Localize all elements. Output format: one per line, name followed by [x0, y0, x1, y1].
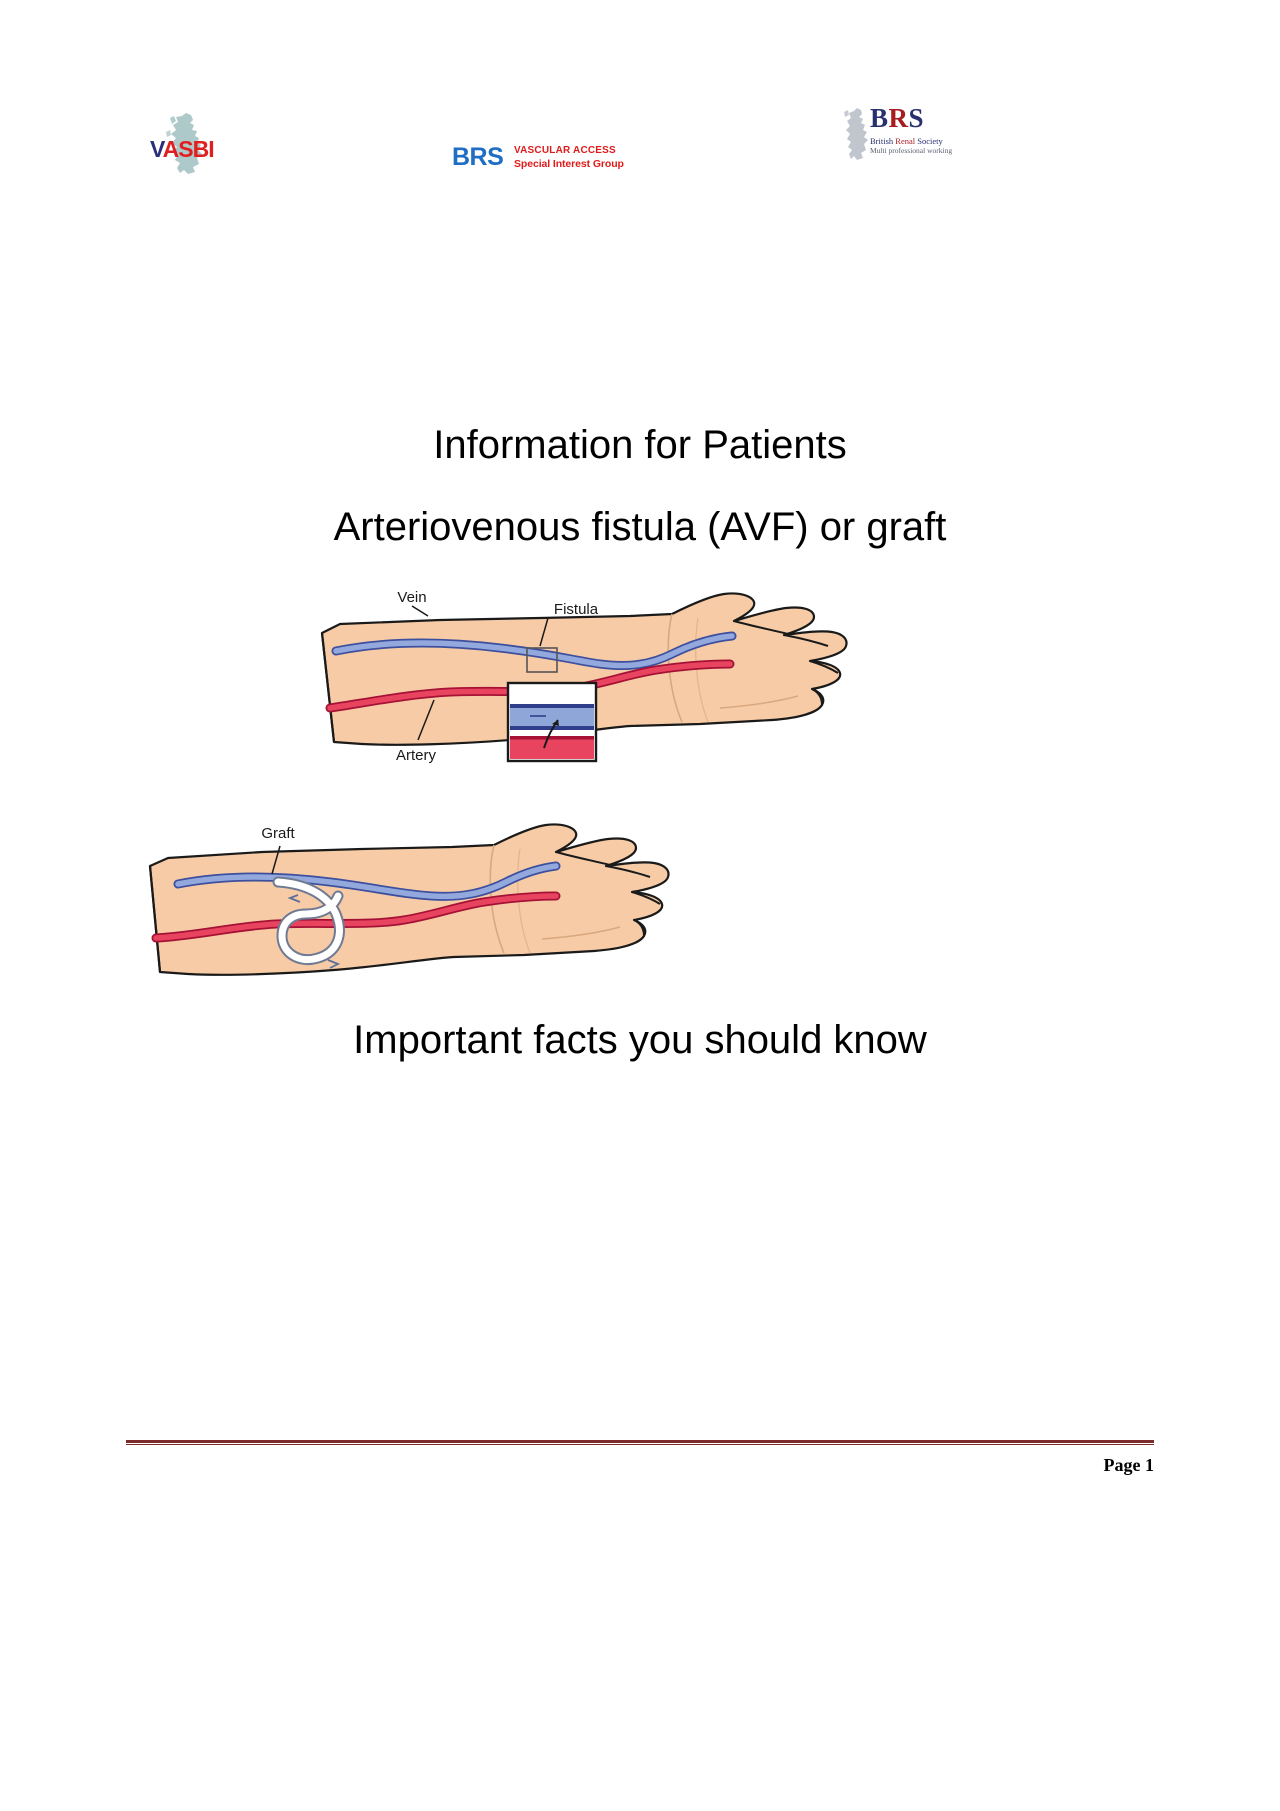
page-title-line-2: Arteriovenous fistula (AVF) or graft: [0, 505, 1280, 550]
british-renal-society-logo: BRS British Renal Society Multi professi…: [842, 105, 946, 167]
vasig-line-1: VASCULAR ACCESS: [514, 145, 624, 158]
vasbi-logo: VASBI: [150, 112, 228, 178]
vasig-text-block: VASCULAR ACCESS Special Interest Group: [514, 145, 624, 171]
footer-rule-thin: [126, 1444, 1154, 1445]
brs-vascular-access-sig-logo: BRS VASCULAR ACCESS Special Interest Gro…: [452, 143, 632, 183]
brs-letter-r: R: [889, 103, 909, 133]
brs-tagline: Multi professional working: [870, 146, 952, 155]
label-artery: Artery: [396, 747, 437, 764]
footer-divider: [126, 1440, 1154, 1446]
vasig-line-2: Special Interest Group: [514, 158, 624, 171]
graft-illustration: Graft: [132, 818, 692, 1003]
label-vein: Vein: [397, 589, 426, 606]
fistula-diagram: Vein Fistula Artery: [300, 588, 860, 803]
arm-shape: [150, 824, 668, 974]
page-tagline: Important facts you should know: [0, 1018, 1280, 1063]
page-number: Page 1: [126, 1455, 1154, 1476]
vasbi-letters-asbi: ASBI: [163, 136, 214, 162]
brs-subtitle-society: Society: [917, 136, 943, 146]
brs-subtitle-renal: Renal: [895, 136, 917, 146]
fistula-inset-panel: [508, 683, 596, 761]
brs-letter-s: S: [909, 103, 925, 133]
header-logo-bar: VASBI BRS VASCULAR ACCESS Special Intere…: [0, 0, 1280, 230]
label-graft: Graft: [261, 825, 295, 842]
footer-rule-thick: [126, 1440, 1154, 1443]
vasbi-wordmark: VASBI: [150, 138, 228, 161]
label-fistula: Fistula: [554, 601, 599, 618]
brs-subtitle-british: British: [870, 136, 895, 146]
document-page: VASBI BRS VASCULAR ACCESS Special Intere…: [0, 0, 1280, 1811]
vasbi-letter-v: V: [150, 136, 163, 162]
brs-subtitle: British Renal Society: [870, 136, 943, 146]
fistula-illustration: Vein Fistula Artery: [300, 588, 860, 803]
brs-wordmark: BRS: [452, 145, 503, 170]
page-title-line-1: Information for Patients: [0, 423, 1280, 468]
brs-letter-b: B: [870, 103, 889, 133]
brs-wordmark: BRS: [870, 105, 924, 132]
graft-diagram: Graft: [132, 818, 692, 1003]
